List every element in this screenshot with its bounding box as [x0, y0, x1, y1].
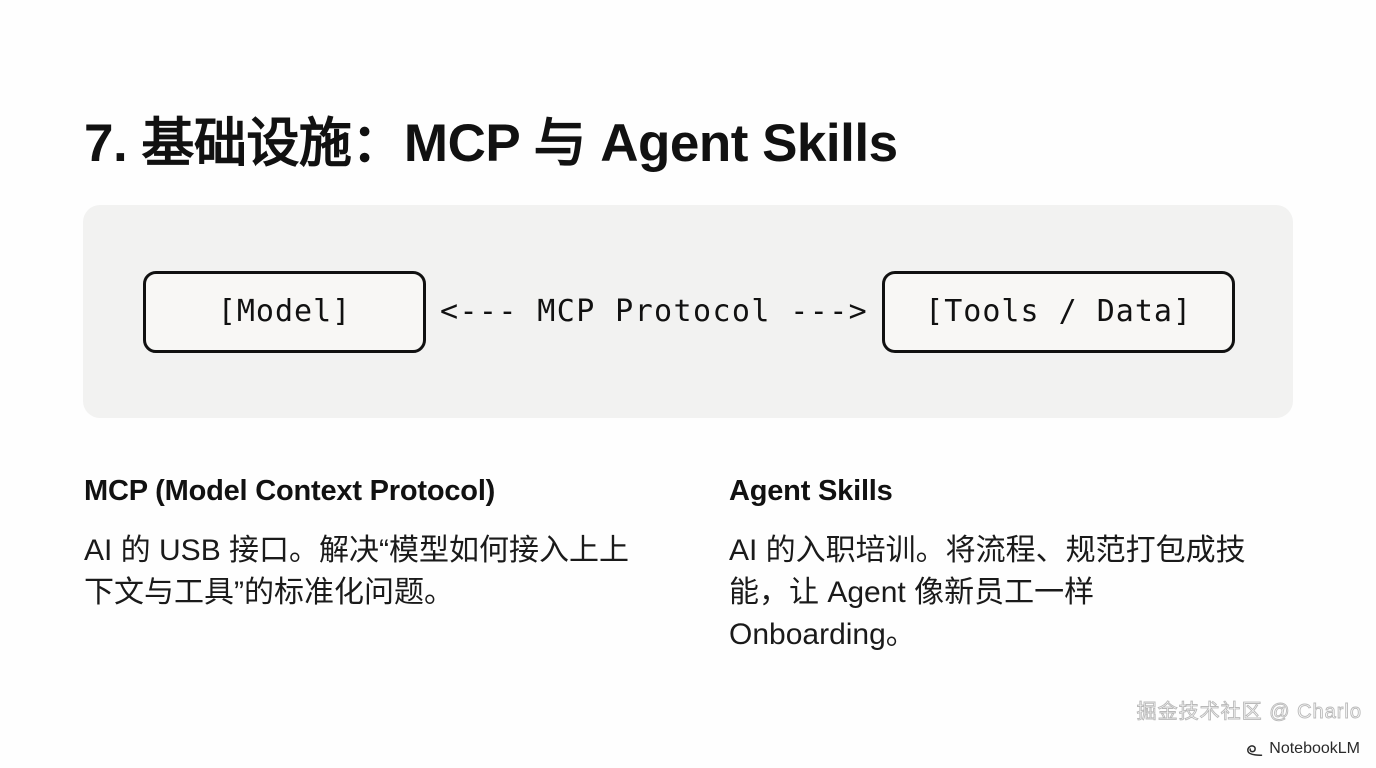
- column-agent-skills: Agent Skills AI 的入职培训。将流程、规范打包成技能，让 Agen…: [699, 476, 1314, 656]
- brand-notebooklm: NotebookLM: [1246, 740, 1360, 758]
- brand-label: NotebookLM: [1269, 740, 1360, 758]
- column-mcp-heading: MCP (Model Context Protocol): [84, 476, 699, 508]
- diagram-panel: [Model] <--- MCP Protocol ---> [Tools / …: [83, 205, 1293, 418]
- diagram-node-tools-data: [Tools / Data]: [882, 271, 1235, 353]
- diagram-row: [Model] <--- MCP Protocol ---> [Tools / …: [83, 205, 1293, 418]
- column-mcp-body: AI 的 USB 接口。解决“模型如何接入上上下文与工具”的标准化问题。: [84, 530, 644, 614]
- column-mcp: MCP (Model Context Protocol) AI 的 USB 接口…: [84, 476, 699, 656]
- watermark-text: 掘金技术社区 @ Charlo: [1137, 695, 1362, 724]
- diagram-node-model: [Model]: [143, 271, 426, 353]
- column-agent-skills-body: AI 的入职培训。将流程、规范打包成技能，让 Agent 像新员工一样 Onbo…: [729, 530, 1289, 656]
- notebooklm-spiral-icon: [1246, 742, 1263, 757]
- content-columns: MCP (Model Context Protocol) AI 的 USB 接口…: [84, 476, 1314, 656]
- slide-canvas: 7. 基础设施：MCP 与 Agent Skills [Model] <--- …: [0, 0, 1376, 768]
- column-agent-skills-heading: Agent Skills: [729, 476, 1314, 508]
- page-title: 7. 基础设施：MCP 与 Agent Skills: [84, 114, 898, 175]
- diagram-protocol-arrow-label: <--- MCP Protocol --->: [426, 294, 882, 329]
